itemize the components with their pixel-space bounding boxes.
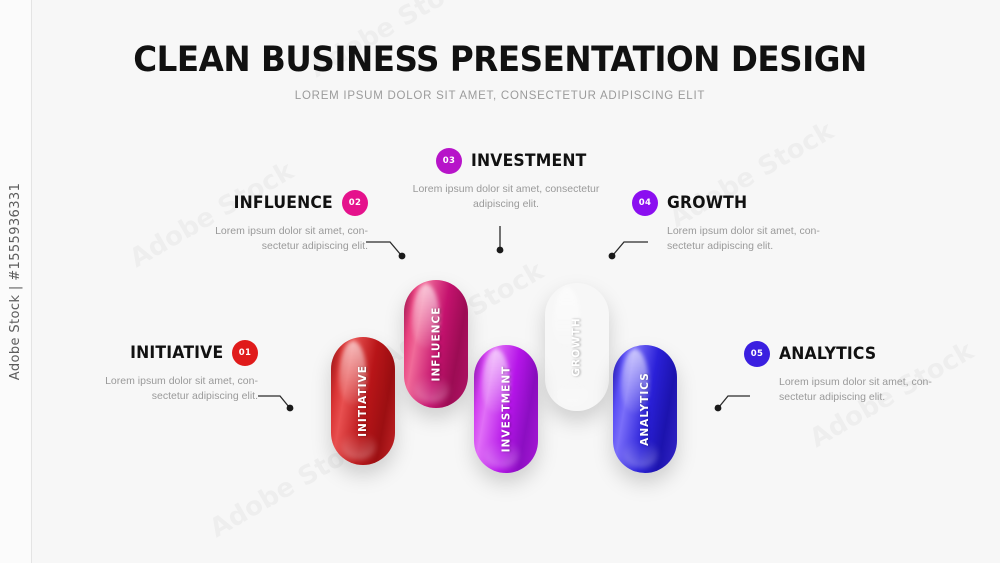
capsule-growth[interactable]: GROWTH — [545, 283, 609, 411]
step-badge[interactable]: 03 — [436, 148, 462, 174]
capsule-analytics[interactable]: ANALYTICS — [613, 345, 677, 473]
step-label-05: 05 ANALYTICS Lorem ipsum dolor sit amet,… — [744, 341, 944, 405]
capsule-label: INITIATIVE — [357, 365, 369, 437]
step-body: Lorem ipsum dolor sit amet, con-sectetur… — [667, 224, 852, 254]
step-badge[interactable]: 02 — [342, 190, 368, 216]
step-label-01: INITIATIVE 01 Lorem ipsum dolor sit amet… — [62, 340, 258, 404]
step-body: Lorem ipsum dolor sit amet, con-sectetur… — [183, 224, 368, 254]
capsule-label: ANALYTICS — [639, 372, 651, 446]
capsule-initiative[interactable]: INITIATIVE — [331, 337, 395, 465]
step-label-02: INFLUENCE 02 Lorem ipsum dolor sit amet,… — [172, 190, 368, 254]
capsule-lower-highlight — [555, 378, 590, 406]
step-title: ANALYTICS — [779, 344, 876, 364]
step-title: INITIATIVE — [130, 343, 223, 363]
capsule-label: INFLUENCE — [430, 307, 442, 382]
step-body: Lorem ipsum dolor sit amet, con-sectetur… — [779, 375, 964, 405]
step-label-03: 03 INVESTMENT Lorem ipsum dolor sit amet… — [406, 148, 606, 212]
step-badge[interactable]: 05 — [744, 341, 770, 367]
step-title: INFLUENCE — [234, 193, 333, 213]
capsule-investment[interactable]: INVESTMENT — [474, 345, 538, 473]
step-badge[interactable]: 04 — [632, 190, 658, 216]
capsule-influence[interactable]: INFLUENCE — [404, 280, 468, 408]
capsule-label: INVESTMENT — [500, 366, 512, 453]
step-body: Lorem ipsum dolor sit amet, consectetur … — [406, 182, 606, 212]
step-badge[interactable]: 01 — [232, 340, 258, 366]
step-title: GROWTH — [667, 193, 747, 213]
capsule-group: INITIATIVE INFLUENCE INVESTMENT GROWTH A… — [0, 0, 1000, 563]
step-label-04: 04 GROWTH Lorem ipsum dolor sit amet, co… — [632, 190, 832, 254]
step-title: INVESTMENT — [471, 151, 586, 171]
step-body: Lorem ipsum dolor sit amet, con-sectetur… — [73, 374, 258, 404]
capsule-label: GROWTH — [571, 317, 583, 376]
